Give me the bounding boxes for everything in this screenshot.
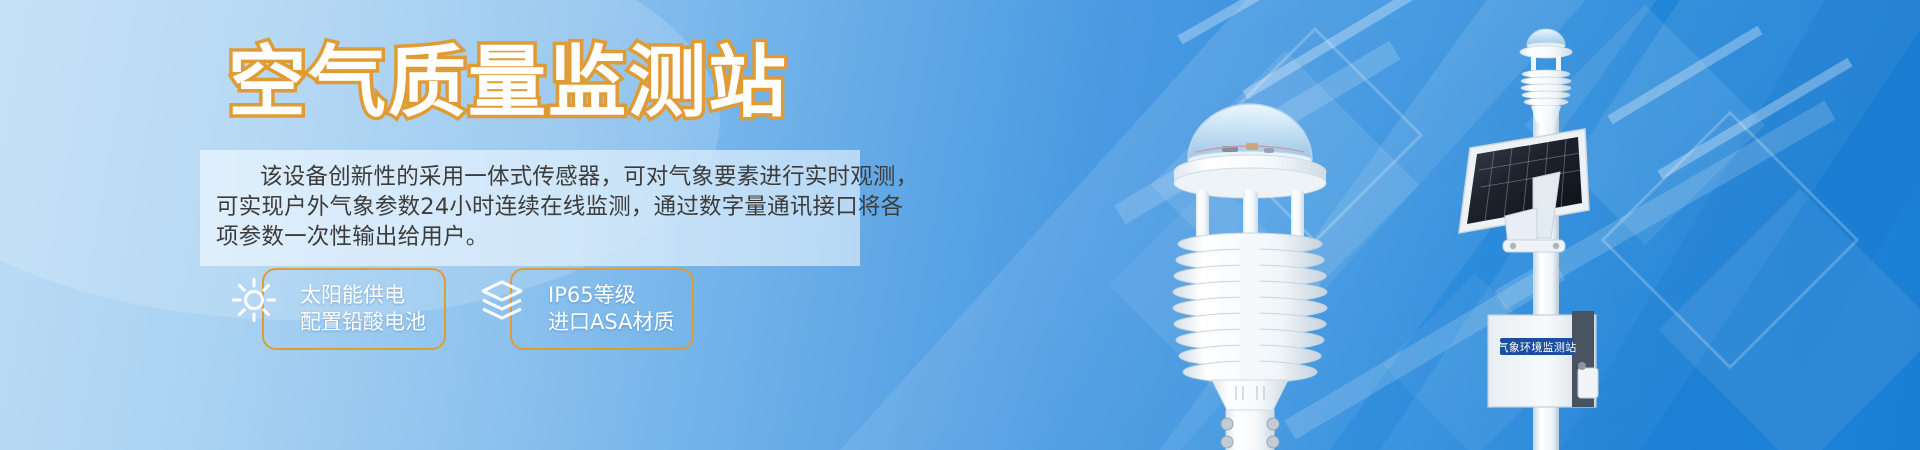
mount-bolts: [1221, 418, 1279, 448]
description-panel: 该设备创新性的采用一体式传感器，可对气象要素进行实时观测， 可实现户外气象参数2…: [200, 150, 860, 266]
weather-station: 气象环境监测站: [1459, 29, 1598, 450]
control-cabinet: 气象环境监测站: [1488, 311, 1598, 407]
cabinet-label: 气象环境监测站: [1497, 340, 1576, 354]
description-line-2: 可实现户外气象参数24小时连续在线监测，通过数字量通讯接口将各: [216, 192, 844, 222]
feature-badge-solar-line-1: 太阳能供电: [300, 282, 426, 309]
sun-icon: [228, 274, 280, 326]
feature-badge-ip65-box: IP65等级 进口ASA材质: [510, 268, 694, 350]
feature-badge-ip65-line-2: 进口ASA材质: [548, 309, 674, 336]
feature-badge-ip65-line-1: IP65等级: [548, 282, 674, 309]
chevron-streaks: [1180, 0, 1850, 175]
dome-internals: [1196, 143, 1304, 153]
description-line-3: 项参数一次性输出给用户。: [216, 222, 844, 252]
feature-badge-solar-line-2: 配置铅酸电池: [300, 309, 426, 336]
diamond-plates: [1109, 5, 1920, 450]
feature-badge-ip65: IP65等级 进口ASA材质: [476, 268, 694, 350]
feature-badge-solar-box: 太阳能供电 配置铅酸电池: [262, 268, 446, 350]
feature-badge-list: 太阳能供电 配置铅酸电池 IP65等级 进口ASA材质: [228, 268, 694, 350]
diagonal-band-group: [840, 0, 1920, 450]
layers-icon: [476, 274, 528, 326]
station-top-sensor: [1520, 29, 1572, 122]
diamond-outlines: [1209, 29, 1857, 367]
product-banner: 空气质量监测站 该设备创新性的采用一体式传感器，可对气象要素进行实时观测， 可实…: [0, 0, 1920, 450]
chevron-streaks-soft: [1120, 50, 1830, 430]
radiation-shield: [1173, 233, 1327, 383]
feature-badge-solar: 太阳能供电 配置铅酸电池: [228, 268, 446, 350]
description-line-1: 该设备创新性的采用一体式传感器，可对气象要素进行实时观测，: [216, 162, 844, 192]
solar-panel: [1459, 129, 1589, 252]
weather-sensor: [1173, 104, 1327, 450]
page-title: 空气质量监测站: [228, 44, 788, 122]
